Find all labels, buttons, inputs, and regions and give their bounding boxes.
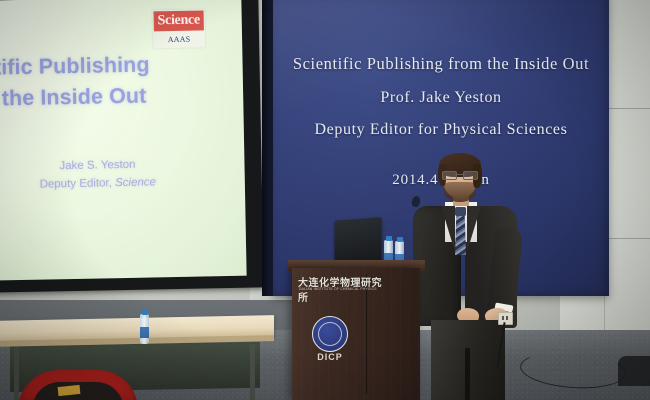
slide-role-journal: Science xyxy=(115,176,156,189)
bottle-cap xyxy=(397,237,403,242)
slide-title-line2: om the Inside Out xyxy=(0,79,233,115)
slide-role-prefix: Deputy Editor, xyxy=(40,177,116,190)
banner-line-title: Scientific Publishing from the Inside Ou… xyxy=(273,54,609,74)
banner-line-speaker: Prof. Jake Yeston xyxy=(273,89,609,107)
podium-acronym: DICP xyxy=(308,352,352,362)
presentation-photo: Science AAAS ientific Publishing om the … xyxy=(0,0,650,400)
eyeglass-bridge xyxy=(455,174,465,175)
projection-screen: Science AAAS ientific Publishing om the … xyxy=(0,0,247,281)
laptop-screen xyxy=(335,217,382,261)
beard xyxy=(444,182,476,202)
projection-screen-frame: Science AAAS ientific Publishing om the … xyxy=(0,0,264,293)
jacket-lapel-left xyxy=(441,206,455,252)
bottle-label xyxy=(140,327,149,338)
outlet-prong xyxy=(502,316,504,320)
dicp-emblem-ring xyxy=(318,322,342,346)
trouser-leg-gap xyxy=(465,348,470,400)
dicp-emblem-icon xyxy=(312,316,348,352)
striped-necktie xyxy=(455,213,466,255)
slide-subtitle: Jake S. Yeston Deputy Editor, Science xyxy=(0,154,213,194)
table-leg xyxy=(14,344,19,400)
eyeglass-lens-left xyxy=(442,171,457,180)
banner-line-role: Deputy Editor for Physical Sciences xyxy=(273,121,609,139)
wall-power-outlet xyxy=(498,312,513,325)
chair-right-edge xyxy=(618,356,650,386)
eyeglasses xyxy=(442,171,478,178)
aaas-wordmark: AAAS xyxy=(154,32,204,46)
bottle-cap xyxy=(142,310,148,315)
bottle-cap xyxy=(386,236,392,241)
screen-glare xyxy=(0,0,247,281)
slide-title: ientific Publishing om the Inside Out xyxy=(0,48,233,115)
jacket-lapel-right xyxy=(467,206,481,252)
science-aaas-logo: Science AAAS xyxy=(153,9,206,48)
eyeglass-lens-right xyxy=(463,171,478,180)
necktie-knot xyxy=(455,207,466,216)
table-leg xyxy=(250,344,255,400)
podium-lectern: 大连化学物理研究所 DALIAN INSTITUTE OF CHEMICAL P… xyxy=(292,268,420,400)
podium-institute-name-en: DALIAN INSTITUTE OF CHEMICAL PHYSICS xyxy=(299,287,385,292)
science-wordmark: Science xyxy=(154,10,204,31)
water-bottle xyxy=(140,314,149,344)
outlet-prong xyxy=(506,316,508,320)
